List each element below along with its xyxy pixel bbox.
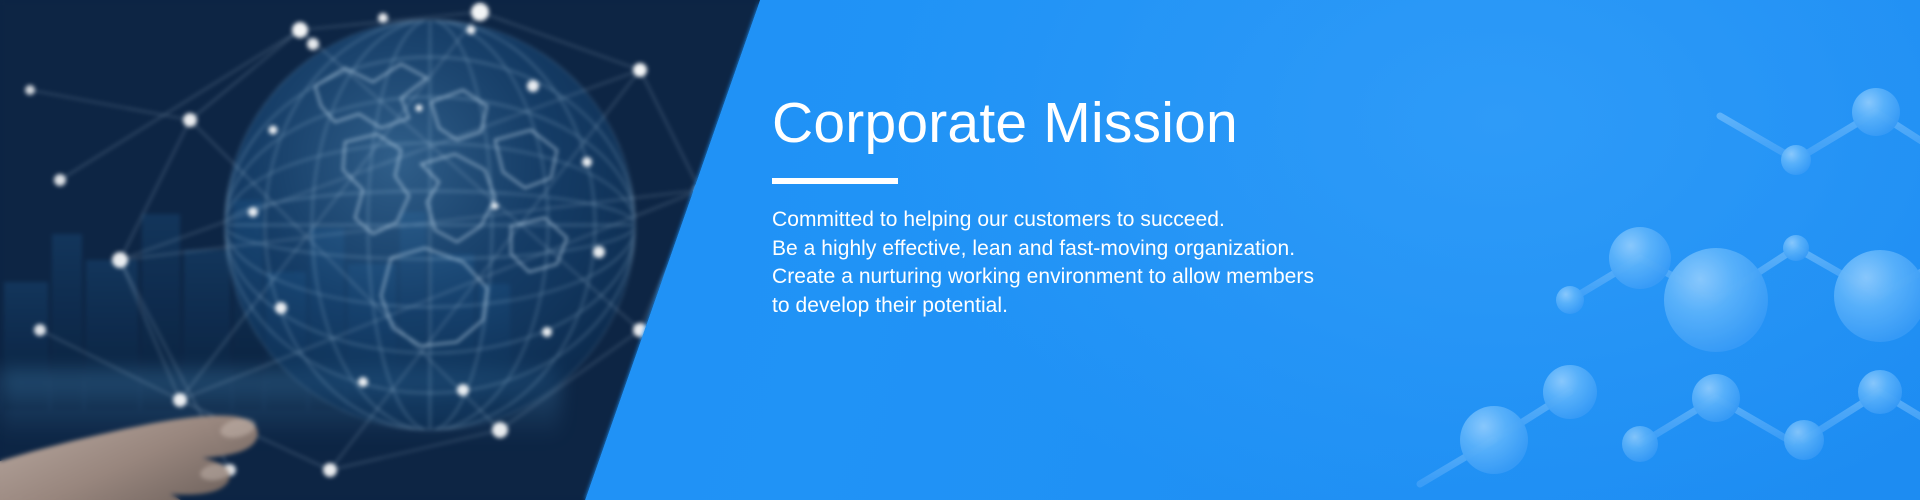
banner-content: Corporate Mission Committed to helping o… <box>772 88 1392 320</box>
mission-line: to develop their potential. <box>772 292 1392 321</box>
title-divider <box>772 178 898 184</box>
page-title: Corporate Mission <box>772 88 1392 158</box>
corporate-mission-banner: Corporate Mission Committed to helping o… <box>0 0 1920 500</box>
mission-line: Be a highly effective, lean and fast-mov… <box>772 235 1392 264</box>
mission-line: Committed to helping our customers to su… <box>772 206 1392 235</box>
mission-statement: Committed to helping our customers to su… <box>772 206 1392 320</box>
mission-line: Create a nurturing working environment t… <box>772 263 1392 292</box>
